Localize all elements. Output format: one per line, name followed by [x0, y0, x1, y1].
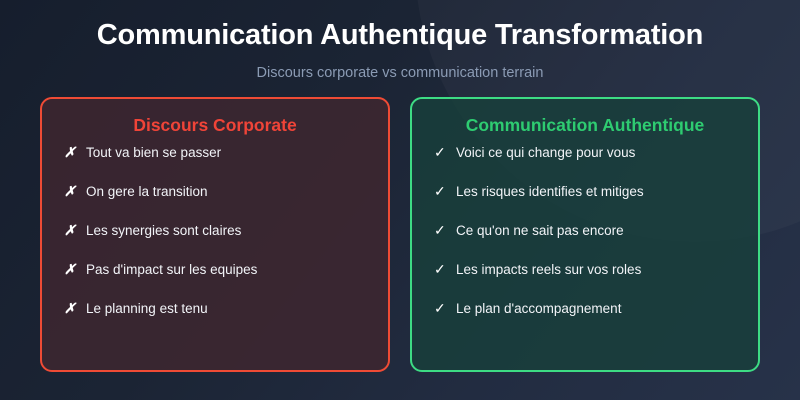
cross-icon: ✗: [64, 145, 86, 159]
list-item: ✗ Les synergies sont claires: [64, 223, 366, 262]
cross-icon: ✗: [64, 262, 86, 276]
list-item: ✓ Voici ce qui change pour vous: [434, 145, 736, 184]
list-item-label: Le plan d'accompagnement: [456, 301, 621, 316]
card-communication-authentique: Communication Authentique ✓ Voici ce qui…: [410, 97, 760, 372]
list-item-label: Ce qu'on ne sait pas encore: [456, 223, 624, 238]
list-item: ✗ Pas d'impact sur les equipes: [64, 262, 366, 301]
list-item-label: On gere la transition: [86, 184, 208, 199]
page-title: Communication Authentique Transformation: [0, 19, 800, 52]
list-item: ✗ Le planning est tenu: [64, 301, 366, 340]
list-item-label: Tout va bien se passer: [86, 145, 221, 160]
check-icon: ✓: [434, 184, 456, 198]
list-item-label: Les risques identifies et mitiges: [456, 184, 644, 199]
list-item: ✗ Tout va bien se passer: [64, 145, 366, 184]
check-icon: ✓: [434, 262, 456, 276]
list-discours-corporate: ✗ Tout va bien se passer ✗ On gere la tr…: [64, 145, 366, 340]
cross-icon: ✗: [64, 184, 86, 198]
list-item-label: Voici ce qui change pour vous: [456, 145, 635, 160]
page-subtitle: Discours corporate vs communication terr…: [0, 65, 800, 81]
comparison-cards: Discours Corporate ✗ Tout va bien se pas…: [40, 97, 760, 372]
list-item-label: Le planning est tenu: [86, 301, 208, 316]
list-item: ✗ On gere la transition: [64, 184, 366, 223]
header: Communication Authentique Transformation…: [0, 0, 800, 81]
cross-icon: ✗: [64, 301, 86, 315]
list-item-label: Les impacts reels sur vos roles: [456, 262, 641, 277]
cross-icon: ✗: [64, 223, 86, 237]
card-discours-corporate: Discours Corporate ✗ Tout va bien se pas…: [40, 97, 390, 372]
list-item: ✓ Ce qu'on ne sait pas encore: [434, 223, 736, 262]
list-communication-authentique: ✓ Voici ce qui change pour vous ✓ Les ri…: [434, 145, 736, 340]
list-item-label: Les synergies sont claires: [86, 223, 241, 238]
list-item: ✓ Le plan d'accompagnement: [434, 301, 736, 340]
list-item: ✓ Les impacts reels sur vos roles: [434, 262, 736, 301]
list-item-label: Pas d'impact sur les equipes: [86, 262, 257, 277]
check-icon: ✓: [434, 223, 456, 237]
check-icon: ✓: [434, 301, 456, 315]
card-title-communication-authentique: Communication Authentique: [434, 115, 736, 136]
list-item: ✓ Les risques identifies et mitiges: [434, 184, 736, 223]
card-title-discours-corporate: Discours Corporate: [64, 115, 366, 136]
check-icon: ✓: [434, 145, 456, 159]
